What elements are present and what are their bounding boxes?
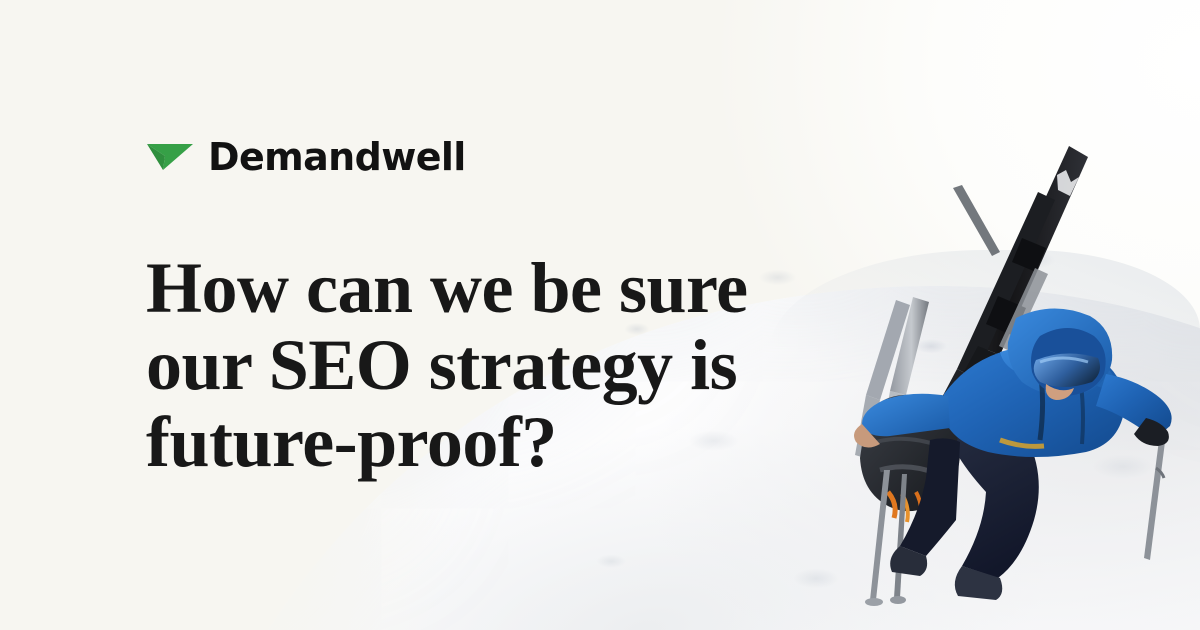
headline-line-2: our SEO strategy is [146,327,786,404]
brand-logo[interactable]: Demandwell [146,136,466,178]
page-title: How can we be sure our SEO strategy is f… [146,250,786,481]
social-share-card: Demandwell How can we be sure our SEO st… [0,0,1200,630]
headline-line-3: future-proof? [146,404,786,481]
brand-wordmark: Demandwell [208,138,466,176]
headline-line-1: How can we be sure [146,250,786,327]
demandwell-arrow-icon [146,136,194,178]
